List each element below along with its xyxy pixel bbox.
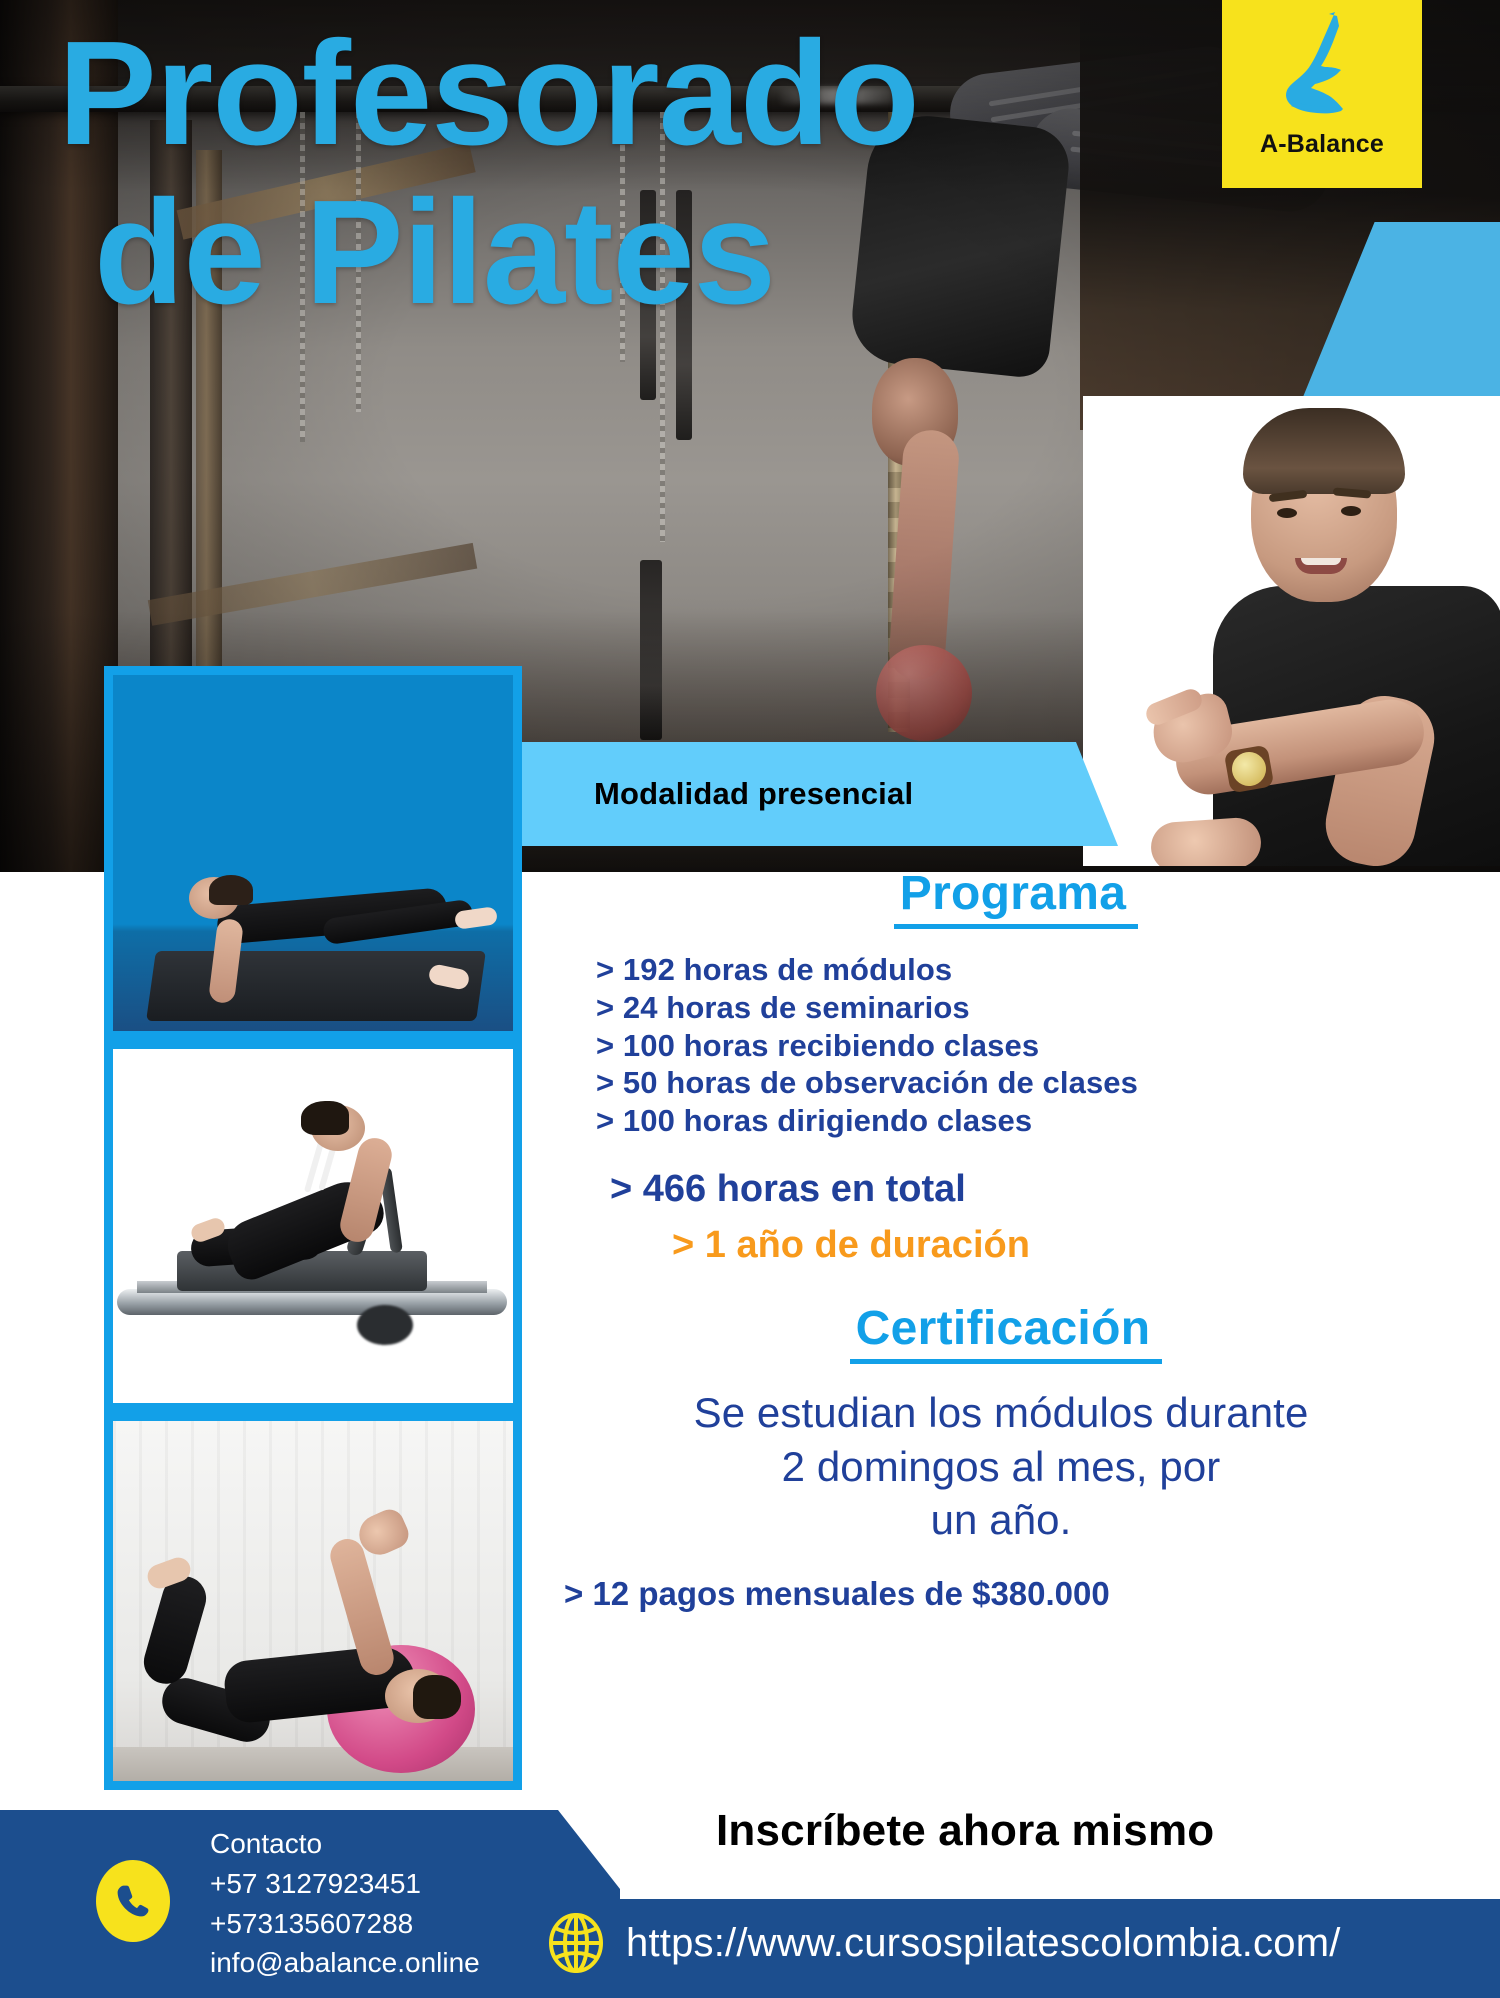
main-content: Programa > 192 horas de módulos > 24 hor… [536, 866, 1466, 1613]
photo-gallery [104, 666, 522, 1790]
programa-duration: > 1 año de duración [672, 1225, 1466, 1267]
poster-root: Profesorado de Pilates A-Balance Modalid… [0, 0, 1500, 1998]
certificacion-body: Se estudian los módulos durante 2 doming… [536, 1386, 1466, 1547]
gallery-photo-reformer [104, 1040, 522, 1412]
contact-email[interactable]: info@abalance.online [210, 1943, 590, 1983]
phone-icon-badge [96, 1860, 170, 1942]
certificacion-heading-text: Certificación [850, 1301, 1163, 1364]
programa-list: > 192 horas de módulos > 24 horas de sem… [596, 951, 1466, 1140]
website-url[interactable]: https://www.cursospilatescolombia.com/ [626, 1921, 1341, 1966]
section-heading-certificacion: Certificación [546, 1301, 1466, 1364]
gallery-photo-stability-ball [104, 1412, 522, 1790]
title-line-2: de Pilates [58, 183, 1178, 324]
contact-label: Contacto [210, 1824, 590, 1864]
list-item: > 100 horas recibiendo clases [596, 1027, 1466, 1065]
title-line-1: Profesorado [58, 24, 1178, 165]
contact-phone-2[interactable]: +573135607288 [210, 1904, 590, 1944]
brand-name: A-Balance [1260, 130, 1384, 159]
list-item: > 50 horas de observación de clases [596, 1064, 1466, 1102]
contact-details: Contacto +57 3127923451 +573135607288 in… [210, 1824, 590, 1983]
globe-icon [548, 1912, 604, 1974]
website-row[interactable]: https://www.cursospilatescolombia.com/ [548, 1912, 1498, 1974]
list-item: > 100 horas dirigiendo clases [596, 1102, 1466, 1140]
certificacion-line-2: 2 domingos al mes, por [536, 1440, 1466, 1494]
payment-terms: > 12 pagos mensuales de $380.000 [564, 1575, 1466, 1613]
contact-phone-1[interactable]: +57 3127923451 [210, 1864, 590, 1904]
certificacion-line-3: un año. [536, 1493, 1466, 1547]
modality-label: Modalidad presencial [594, 776, 913, 812]
programa-heading-text: Programa [894, 866, 1139, 929]
phone-icon [112, 1880, 154, 1922]
modality-banner: Modalidad presencial [518, 742, 1118, 846]
list-item: > 24 horas de seminarios [596, 989, 1466, 1027]
pilates-teaser-silhouette-icon [1267, 8, 1377, 128]
programa-total-hours: > 466 horas en total [610, 1168, 1466, 1211]
certificacion-line-1: Se estudian los módulos durante [536, 1386, 1466, 1440]
gallery-photo-plank [104, 666, 522, 1040]
cta-headline: Inscríbete ahora mismo [716, 1806, 1276, 1856]
instructor-portrait-photo [1083, 396, 1500, 866]
brand-logo: A-Balance [1222, 0, 1422, 188]
list-item: > 192 horas de módulos [596, 951, 1466, 989]
page-title: Profesorado de Pilates [58, 24, 1178, 323]
section-heading-programa: Programa [566, 866, 1466, 929]
